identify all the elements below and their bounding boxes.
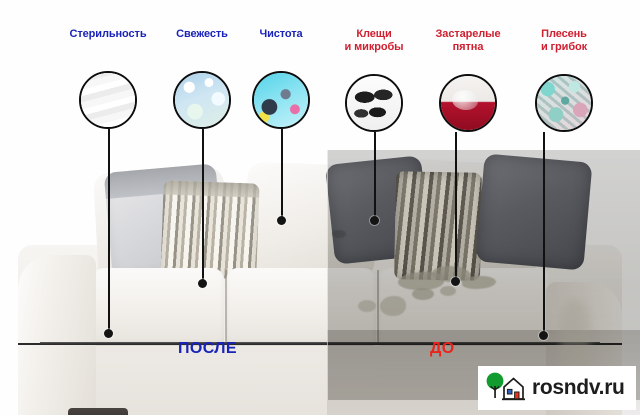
callout-circle-mold (535, 74, 593, 132)
stain-blob (358, 300, 376, 312)
leader-line-old-stains (455, 132, 457, 282)
leader-line-cleanliness (281, 129, 283, 221)
throw-pillow-patterned-dirty (394, 171, 482, 280)
throw-pillow-patterned-clean (160, 180, 259, 279)
callout-circle-freshness (173, 71, 231, 129)
leader-dot-freshness (198, 279, 207, 288)
stain-blob (380, 296, 406, 316)
pillow-top-band (163, 180, 259, 197)
callout-circle-mites (345, 74, 403, 132)
before-after-divider (327, 150, 328, 400)
leader-line-sterility (108, 129, 110, 334)
leader-dot-old-stains (451, 277, 460, 286)
leader-dot-mold (539, 331, 548, 340)
blue-sky-clouds-icon (173, 71, 231, 129)
leader-dot-sterility (104, 329, 113, 338)
callout-circle-old-stains (439, 74, 497, 132)
cushion-seam-1 (225, 270, 227, 344)
stain-streak (560, 300, 590, 370)
callout-label-sterility: Стерильность (48, 28, 168, 41)
before-after-sofa-image: Стерильность Свежесть Чистота Клещи и ми… (0, 0, 640, 415)
callout-label-old-stains: Застарелые пятна (418, 28, 518, 53)
stain-spot (332, 230, 346, 238)
cleaning-supplies-icon (252, 71, 310, 129)
leader-dot-cleanliness (277, 216, 286, 225)
watermark-text: rosndv.ru (532, 376, 625, 400)
mold-fungus-icon (535, 74, 593, 132)
callout-circle-cleanliness (252, 71, 310, 129)
dust-mites-icon (345, 74, 403, 132)
watermark: rosndv.ru (478, 366, 636, 410)
callout-label-freshness: Свежесть (158, 28, 246, 41)
leader-line-mold (543, 132, 545, 336)
sofa-foot-left (68, 408, 128, 415)
leader-line-mites (374, 132, 376, 221)
throw-pillow-dark-2 (475, 153, 592, 270)
leader-line-freshness (202, 129, 204, 284)
stain-blob (440, 286, 456, 296)
white-fabric-texture-icon (79, 71, 137, 129)
house-with-tree-logo-icon (484, 371, 528, 405)
callout-label-mold: Плесень и грибок (516, 28, 612, 53)
caption-before: ДО (430, 340, 455, 358)
callout-label-mites: Клещи и микробы (326, 28, 422, 53)
leader-dot-mites (370, 216, 379, 225)
callout-circle-sterility (79, 71, 137, 129)
callout-label-cleanliness: Чистота (241, 28, 321, 41)
stain-blob (412, 288, 434, 300)
red-wine-stain-icon (439, 74, 497, 132)
caption-after: ПОСЛЕ (178, 340, 237, 358)
